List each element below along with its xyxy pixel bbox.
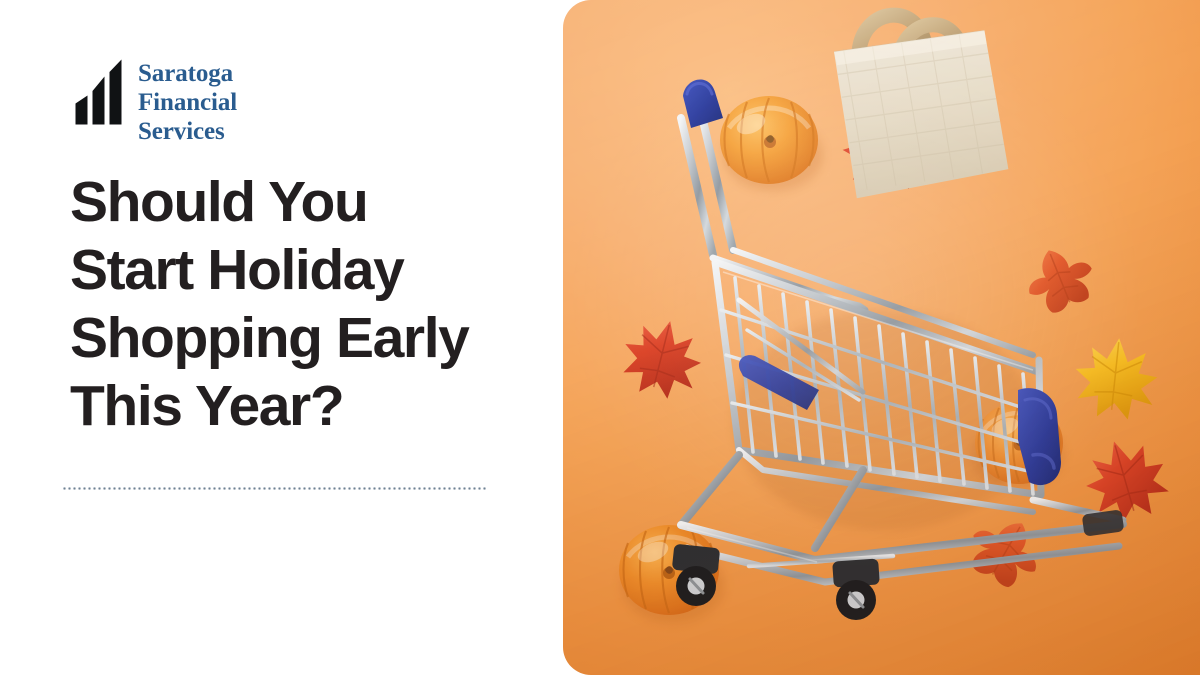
oak-leaf-bottom-right <box>959 505 1052 596</box>
page-title: Should You Start Holiday Shopping Early … <box>70 168 570 440</box>
headline-line-3: Shopping Early <box>70 304 570 372</box>
left-text-panel: Saratoga Financial Services Should You S… <box>0 0 563 675</box>
headline-line-2: Start Holiday <box>70 236 570 304</box>
social-graphic-canvas: Saratoga Financial Services Should You S… <box>0 0 1200 675</box>
brand-line-1: Saratoga <box>138 61 237 86</box>
maple-leaf-yellow-right <box>1071 334 1161 422</box>
cart-handle-grip <box>683 80 723 128</box>
brand-line-2: Financial <box>138 90 237 115</box>
dotted-divider <box>62 487 486 490</box>
maple-leaf-red-left <box>615 312 709 405</box>
headline-line-1: Should You <box>70 168 570 236</box>
brand-logo[interactable]: Saratoga Financial Services <box>74 58 237 148</box>
ascending-bars-logo-icon <box>74 58 124 126</box>
oak-leaf-orange-right <box>1017 238 1102 319</box>
pumpkin-top-left <box>720 96 818 184</box>
tote-bag <box>814 10 1027 219</box>
brand-wordmark: Saratoga Financial Services <box>138 58 237 148</box>
headline-line-4: This Year? <box>70 372 570 440</box>
cart-caster-right <box>832 558 880 620</box>
hero-photo <box>563 0 1200 675</box>
brand-line-3: Services <box>138 119 237 144</box>
autumn-shopping-flatlay-illustration <box>563 0 1200 675</box>
